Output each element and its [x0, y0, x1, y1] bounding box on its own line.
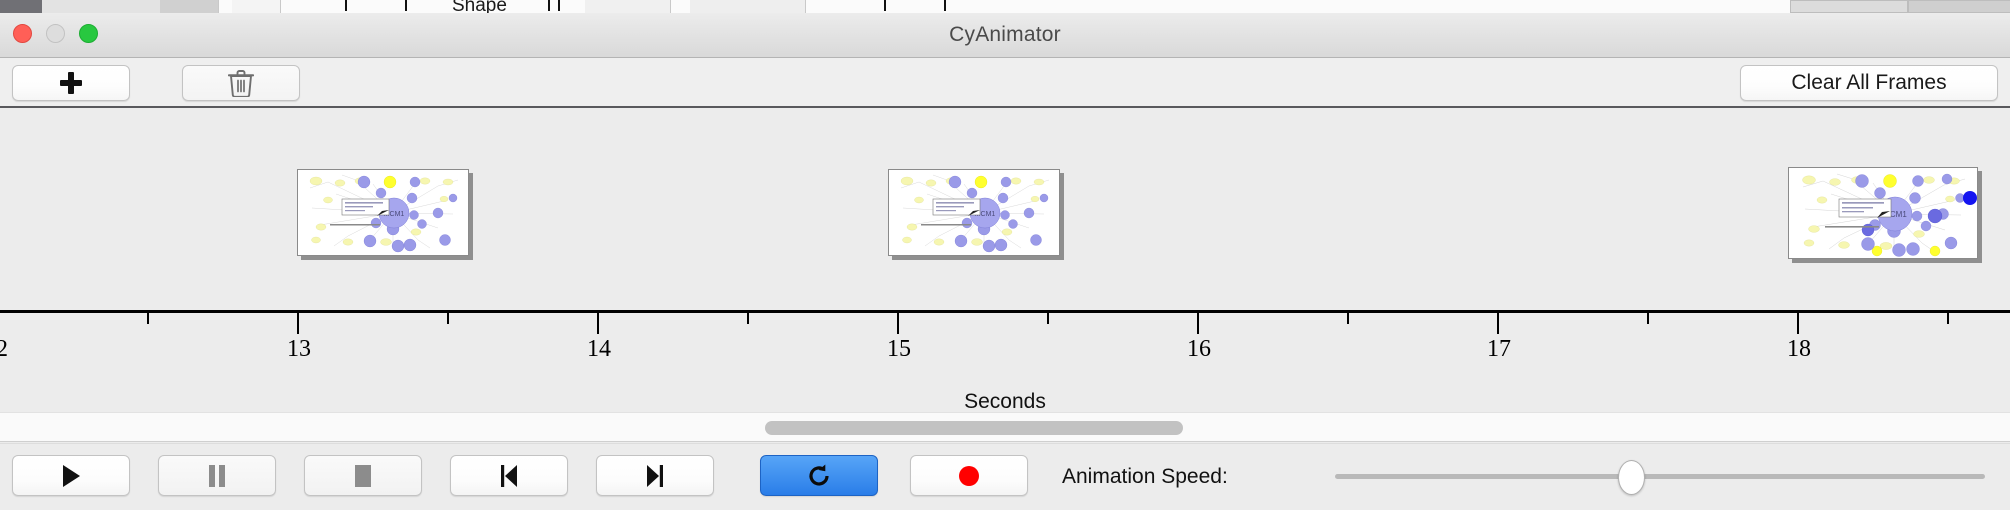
- next-frame-button[interactable]: [596, 455, 714, 496]
- timeline-axis: [0, 310, 2010, 313]
- timeline-panel[interactable]: MCM1: [0, 110, 2010, 412]
- stop-icon: [352, 464, 374, 488]
- background-segment: [42, 0, 101, 13]
- playback-control-bar: Animation Speed:: [0, 443, 2010, 510]
- axis-tick-label: 16: [1187, 336, 1211, 363]
- clear-all-frames-label: Clear All Frames: [1791, 71, 1946, 95]
- keyframe-thumbnail[interactable]: MCM1: [297, 169, 469, 256]
- background-dark-tab: [0, 0, 42, 13]
- background-tick: [558, 0, 560, 11]
- axis-title: Seconds: [0, 390, 2010, 412]
- background-tick: [405, 0, 407, 11]
- axis-tick-minor: [147, 313, 149, 324]
- axis-tick-major: [297, 313, 299, 334]
- background-tick: [548, 0, 550, 11]
- network-thumbnail-image: MCM1: [1789, 168, 1977, 258]
- background-window-strip: Shape: [0, 0, 2010, 13]
- background-segment: [690, 0, 806, 13]
- loop-button[interactable]: [760, 455, 878, 496]
- title-bar: CyAnimator: [0, 13, 2010, 58]
- pause-button[interactable]: [158, 455, 276, 496]
- axis-tick-major: [597, 313, 599, 334]
- animation-speed-label: Animation Speed:: [1062, 465, 1228, 489]
- background-segment: [232, 0, 281, 13]
- loop-icon: [806, 463, 832, 489]
- toolbar: Clear All Frames: [0, 58, 2010, 108]
- axis-tick-major: [1797, 313, 1799, 334]
- play-button[interactable]: [12, 455, 130, 496]
- keyframe-thumbnail[interactable]: MCM1: [888, 169, 1060, 256]
- axis-tick-label: 15: [887, 336, 911, 363]
- keyframe-thumbnail[interactable]: MCM1: [1788, 167, 1978, 259]
- animation-speed-slider[interactable]: [1335, 474, 1985, 479]
- axis-tick-major: [897, 313, 899, 334]
- background-box: [1908, 0, 2010, 13]
- axis-tick-minor: [1347, 313, 1349, 324]
- record-icon: [956, 463, 982, 489]
- axis-tick-minor: [1047, 313, 1049, 324]
- network-thumbnail-image: MCM1: [889, 170, 1059, 255]
- timeline-scrollbar[interactable]: [0, 412, 2010, 442]
- axis-tick-major: [1197, 313, 1199, 334]
- previous-frame-button[interactable]: [450, 455, 568, 496]
- network-thumbnail-image: MCM1: [298, 170, 468, 255]
- add-frame-button[interactable]: [12, 65, 130, 101]
- cyanimator-window: Shape CyAnimator Clear All Frames: [0, 0, 2010, 510]
- axis-tick-label: 2: [0, 336, 8, 363]
- axis-tick-label: 14: [587, 336, 611, 363]
- axis-tick-minor: [747, 313, 749, 324]
- axis-tick-label: 18: [1787, 336, 1811, 363]
- background-tick: [345, 0, 347, 11]
- background-shape-label: Shape: [452, 0, 507, 13]
- scrollbar-thumb[interactable]: [765, 421, 1183, 435]
- slider-thumb[interactable]: [1618, 460, 1645, 495]
- plus-icon: [60, 72, 82, 94]
- delete-frame-button[interactable]: [182, 65, 300, 101]
- background-tick: [944, 0, 946, 11]
- axis-tick-minor: [1947, 313, 1949, 324]
- window-title: CyAnimator: [0, 23, 2010, 47]
- pause-icon: [207, 464, 227, 488]
- background-tick: [884, 0, 886, 11]
- axis-tick-major: [1497, 313, 1499, 334]
- play-icon: [60, 464, 82, 488]
- axis-tick-minor: [1647, 313, 1649, 324]
- background-segment: [585, 0, 671, 13]
- clear-all-frames-button[interactable]: Clear All Frames: [1740, 65, 1998, 101]
- background-segment: [160, 0, 219, 13]
- background-segment: [100, 0, 161, 13]
- axis-tick-label: 13: [287, 336, 311, 363]
- slider-track: [1335, 474, 1985, 479]
- background-box: [1790, 0, 1908, 13]
- stop-button[interactable]: [304, 455, 422, 496]
- skip-forward-icon: [644, 464, 666, 488]
- skip-back-icon: [498, 464, 520, 488]
- record-button[interactable]: [910, 455, 1028, 496]
- trash-icon: [228, 69, 254, 97]
- axis-tick-label: 17: [1487, 336, 1511, 363]
- axis-tick-minor: [447, 313, 449, 324]
